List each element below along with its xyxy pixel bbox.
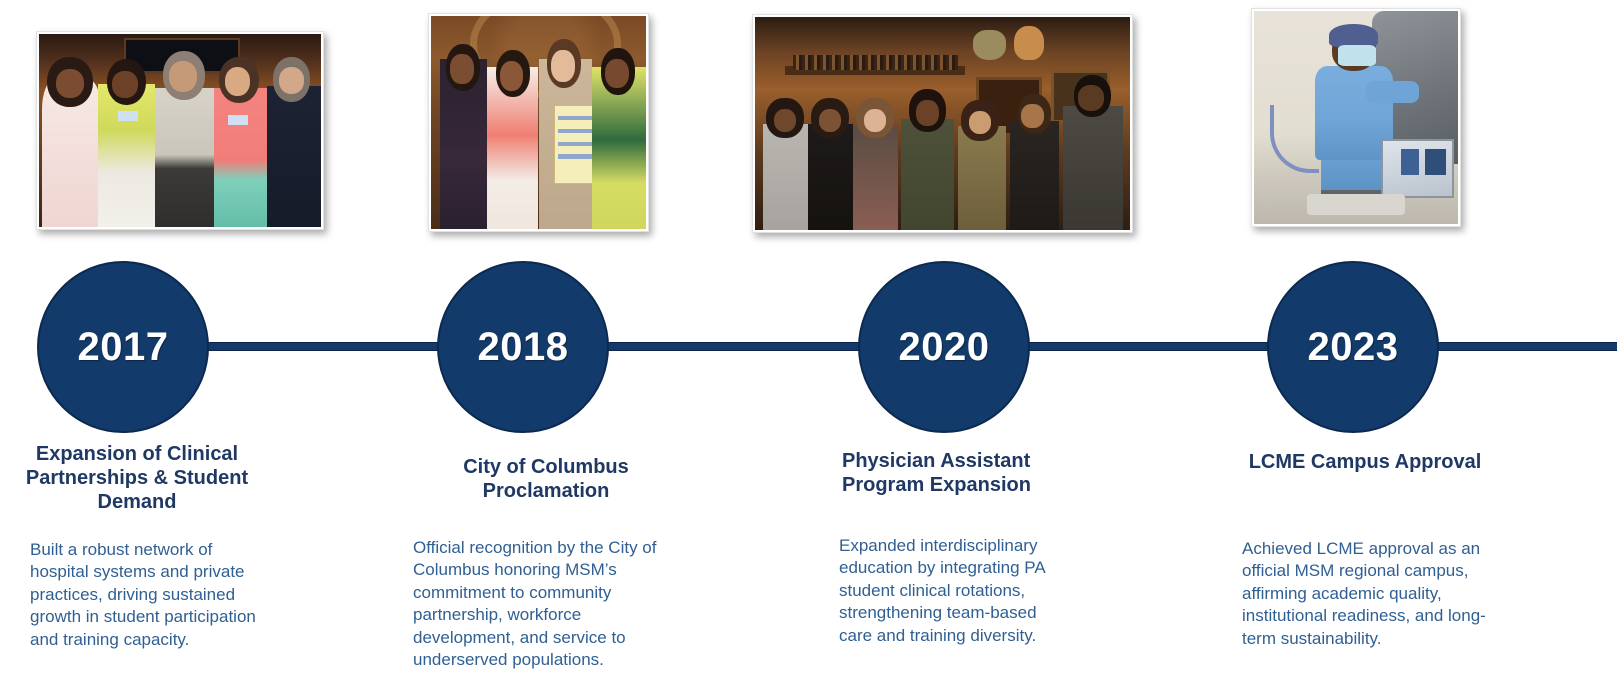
- milestone-heading-2020: Physician Assistant Program Expansion: [828, 449, 1078, 497]
- milestone-heading-2017: Expansion of Clinical Partnerships & Stu…: [0, 442, 282, 514]
- year-circle-2018[interactable]: 2018: [437, 261, 609, 433]
- milestone-2020: 2020 Physician Assistant Program Expansi…: [820, 0, 1223, 697]
- year-circle-2020[interactable]: 2020: [858, 261, 1030, 433]
- year-circle-2017[interactable]: 2017: [37, 261, 209, 433]
- milestone-2023: 2023 LCME Campus Approval Achieved LCME …: [1210, 0, 1613, 697]
- milestone-heading-2018: City of Columbus Proclamation: [416, 455, 676, 503]
- year-label-2023: 2023: [1308, 327, 1399, 367]
- milestone-2017: 2017 Expansion of Clinical Partnerships …: [0, 0, 403, 697]
- timeline-infographic: 2017 Expansion of Clinical Partnerships …: [0, 0, 1617, 697]
- milestone-body-2018: Official recognition by the City of Colu…: [413, 537, 683, 672]
- year-label-2020: 2020: [899, 327, 990, 367]
- milestone-body-2020: Expanded interdisciplinary education by …: [839, 535, 1074, 647]
- milestone-body-2023: Achieved LCME approval as an official MS…: [1242, 538, 1502, 650]
- milestone-body-2017: Built a robust network of hospital syste…: [30, 539, 275, 651]
- year-label-2017: 2017: [78, 327, 169, 367]
- milestone-2018: 2018 City of Columbus Proclamation Offic…: [400, 0, 803, 697]
- year-label-2018: 2018: [478, 327, 569, 367]
- year-circle-2023[interactable]: 2023: [1267, 261, 1439, 433]
- milestone-heading-2023: LCME Campus Approval: [1220, 450, 1510, 474]
